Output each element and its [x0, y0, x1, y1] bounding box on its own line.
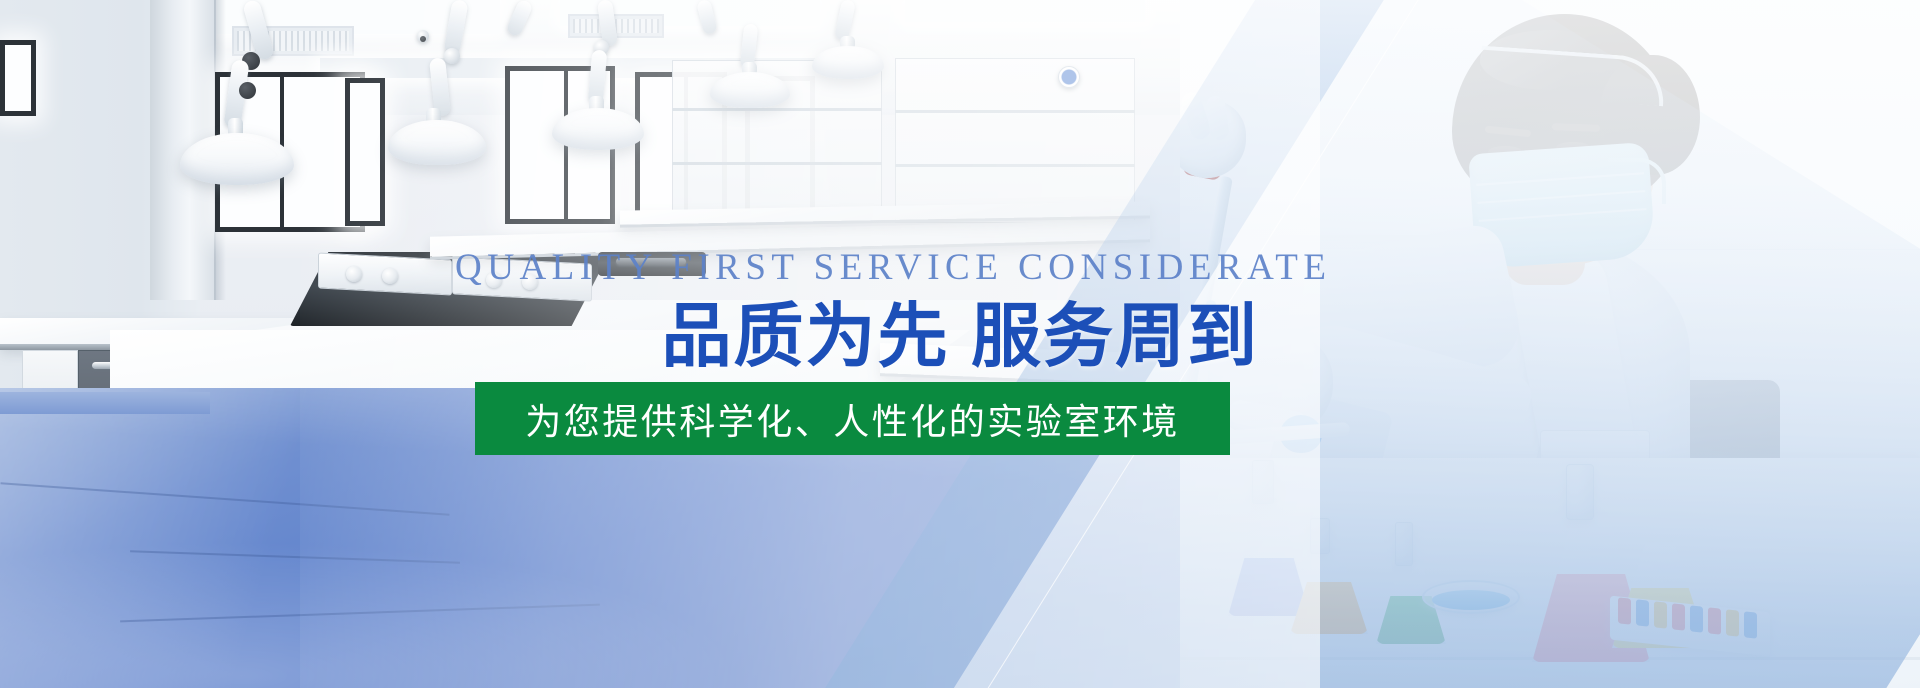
banner-copy: QUALITY FIRST SERVICE CONSIDERATE 品质为先 服… — [0, 0, 1920, 688]
banner-subtitle-text: 为您提供科学化、人性化的实验室环境 — [525, 393, 1180, 445]
banner-headline: 品质为先 服务周到 — [455, 300, 1275, 374]
banner-eyebrow-text: QUALITY FIRST SERVICE CONSIDERATE — [455, 246, 1275, 289]
hero-banner: QUALITY FIRST SERVICE CONSIDERATE 品质为先 服… — [0, 0, 1920, 688]
banner-subtitle-bar: 为您提供科学化、人性化的实验室环境 — [475, 382, 1230, 455]
